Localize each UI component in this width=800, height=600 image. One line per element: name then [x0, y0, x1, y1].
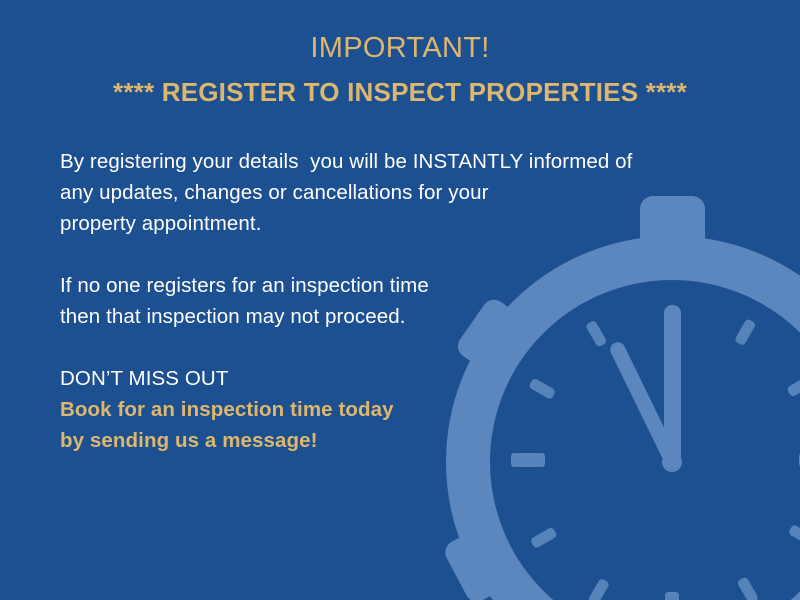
- headline-register: **** REGISTER TO INSPECT PROPERTIES ****: [0, 72, 800, 112]
- headline-block: IMPORTANT! **** REGISTER TO INSPECT PROP…: [0, 28, 800, 112]
- headline-important: IMPORTANT!: [0, 28, 800, 68]
- paragraph-spacer-1: [60, 239, 740, 270]
- paragraph2-line1: If no one registers for an inspection ti…: [60, 270, 740, 301]
- paragraph1-line2: any updates, changes or cancellations fo…: [60, 177, 740, 208]
- cta-dont-miss-out: DON’T MISS OUT: [60, 363, 740, 394]
- paragraph1-line3: property appointment.: [60, 208, 740, 239]
- paragraph2-line2: then that inspection may not proceed.: [60, 301, 740, 332]
- paragraph1-line1: By registering your details you will be …: [60, 146, 740, 177]
- paragraph-registering-benefits: By registering your details you will be …: [60, 146, 740, 239]
- paragraph-spacer-2: [60, 332, 740, 363]
- slide-canvas: IMPORTANT! **** REGISTER TO INSPECT PROP…: [0, 0, 800, 600]
- paragraph-call-to-action: DON’T MISS OUT Book for an inspection ti…: [60, 363, 740, 456]
- cta-book-inspection: Book for an inspection time today: [60, 394, 740, 425]
- slide-content: IMPORTANT! **** REGISTER TO INSPECT PROP…: [0, 0, 800, 600]
- body-block: By registering your details you will be …: [60, 146, 740, 456]
- paragraph-no-registration-warning: If no one registers for an inspection ti…: [60, 270, 740, 332]
- cta-send-message: by sending us a message!: [60, 425, 740, 456]
